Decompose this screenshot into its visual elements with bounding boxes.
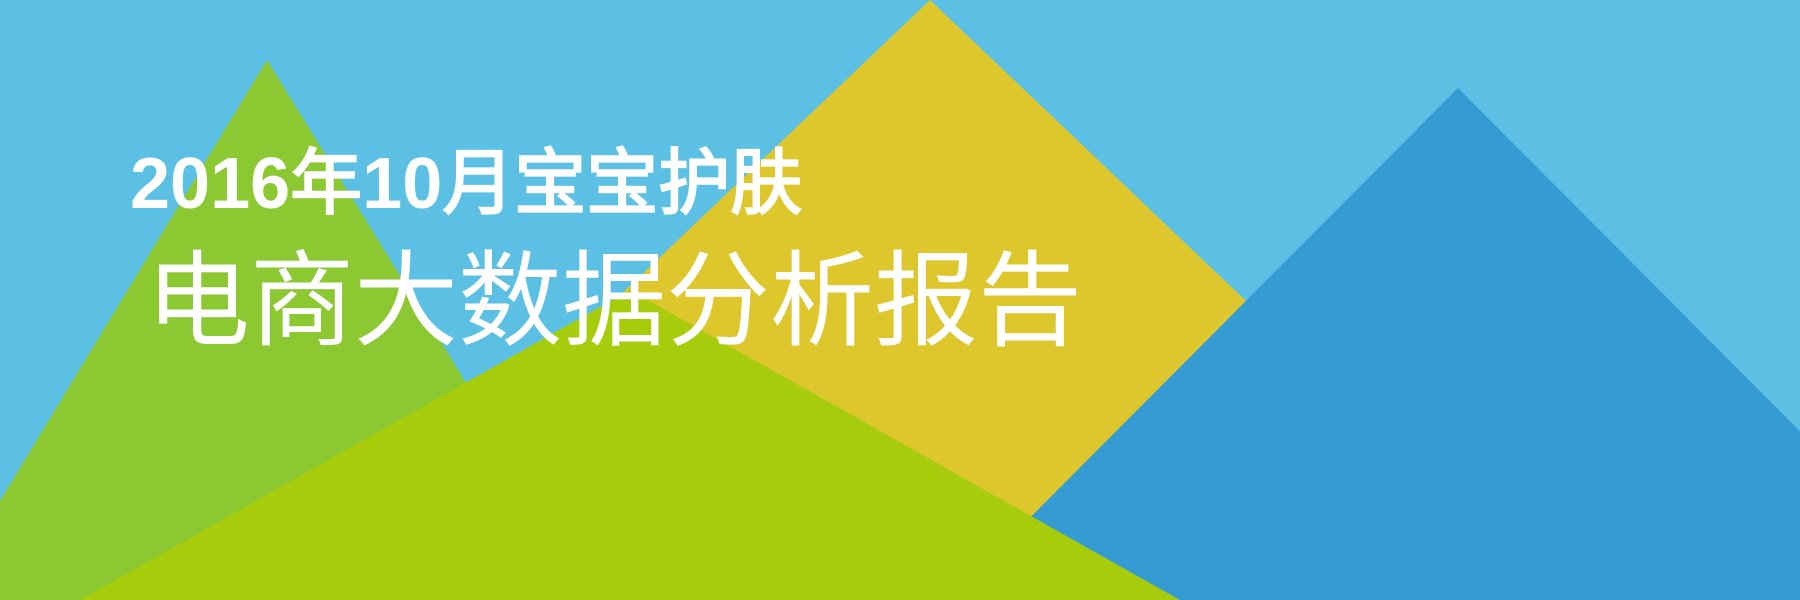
background-geometric-artwork	[0, 0, 1800, 600]
report-cover-banner: 2016年10月宝宝护肤 电商大数据分析报告	[0, 0, 1800, 600]
